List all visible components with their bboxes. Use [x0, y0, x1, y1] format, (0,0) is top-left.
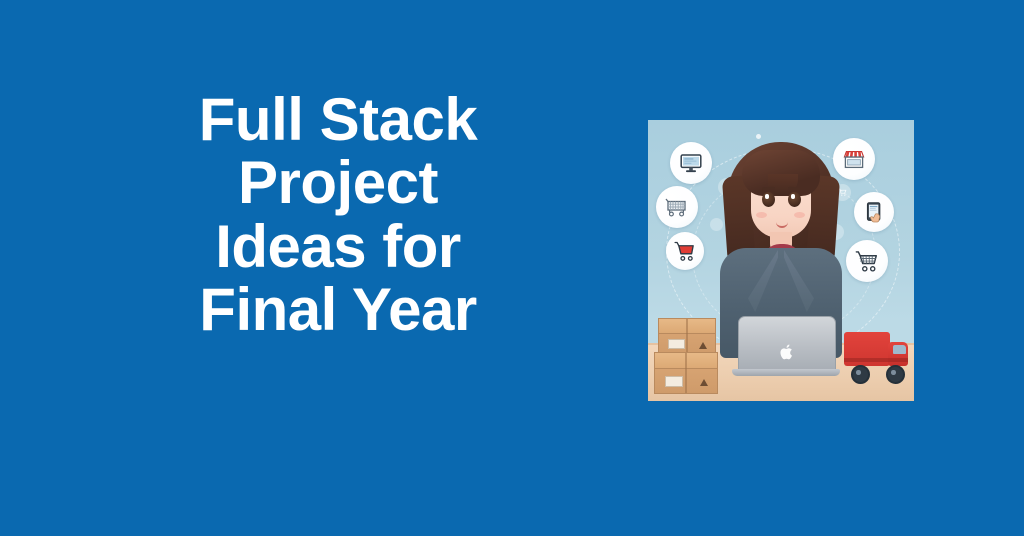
eye-right: [788, 192, 801, 207]
tablet-touch-icon: [863, 201, 886, 224]
eye-left: [762, 192, 775, 207]
laptop: [732, 316, 840, 378]
truck-stripe: [844, 358, 908, 362]
shopping-cart-icon: [855, 249, 880, 274]
page-title: Full Stack Project Ideas for Final Year: [58, 88, 618, 341]
banner: Full Stack Project Ideas for Final Year: [0, 0, 1024, 536]
bubble-tablet-touch: [854, 192, 894, 232]
red-shopping-cart-icon: [674, 240, 697, 263]
delivery-truck: [844, 332, 910, 388]
truck-wheel: [886, 365, 905, 384]
laptop-lid: [738, 316, 836, 372]
bubble-shopping-trolley: [656, 186, 698, 228]
shipping-box: [658, 318, 716, 356]
apple-logo-icon: [780, 343, 795, 361]
truck-window: [893, 345, 906, 354]
truck-wheel: [851, 365, 870, 384]
shipping-box: [654, 352, 718, 394]
blush-left: [756, 212, 767, 218]
bubble-desktop-monitor: [670, 142, 712, 184]
shopping-trolley-icon: [665, 195, 689, 219]
headline-line-2: Project: [58, 151, 618, 214]
hair-fringe: [742, 150, 820, 196]
laptop-base: [732, 369, 840, 376]
headline-line-4: Final Year: [58, 278, 618, 341]
headline-line-3: Ideas for: [58, 215, 618, 278]
headline-line-1: Full Stack: [58, 88, 618, 151]
bubble-red-shopping-cart: [666, 232, 704, 270]
blush-right: [794, 212, 805, 218]
desktop-monitor-icon: [679, 151, 703, 175]
bubble-shopping-cart: [846, 240, 888, 282]
illustration-panel: [648, 120, 914, 401]
